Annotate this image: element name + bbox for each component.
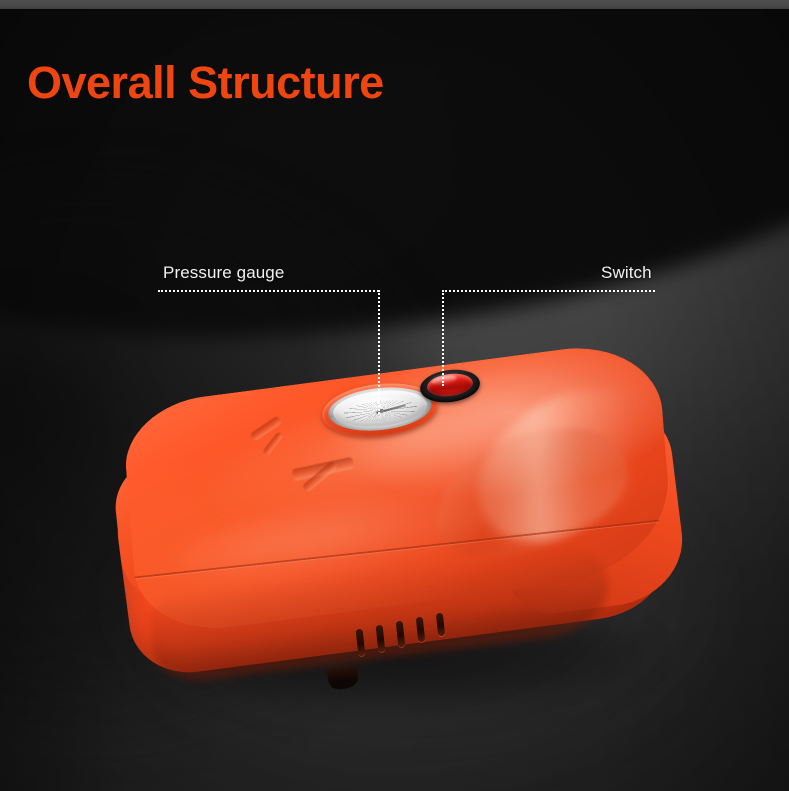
callout-leader-horizontal-pressure-gauge	[158, 290, 379, 292]
callout-label-pressure-gauge: Pressure gauge	[163, 263, 284, 283]
top-bar	[0, 0, 789, 9]
product-diagram-stage: Overall Structure	[0, 0, 789, 791]
callout-label-switch: Switch	[601, 263, 652, 283]
callout-leader-horizontal-switch	[442, 290, 655, 292]
page-title: Overall Structure	[27, 57, 384, 109]
callout-leader-vertical-switch	[442, 290, 444, 386]
callout-leader-vertical-pressure-gauge	[378, 290, 380, 414]
product-illustration	[0, 0, 789, 791]
